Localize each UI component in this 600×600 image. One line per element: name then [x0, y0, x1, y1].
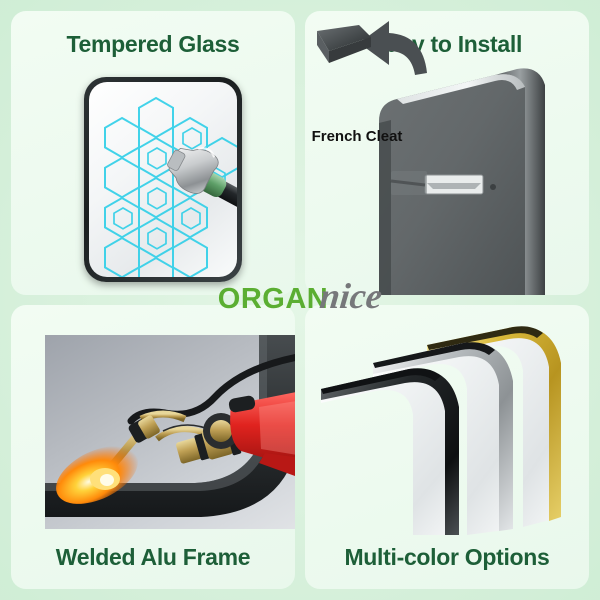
promo-infographic: Tempered Glass — [0, 0, 600, 600]
hammer-icon — [161, 140, 237, 250]
welding-image — [45, 335, 295, 529]
mirror-black — [321, 368, 459, 535]
feature-card-multi-color-options[interactable]: Multi-color Options — [305, 305, 589, 589]
feature-title-tempered-glass: Tempered Glass — [11, 31, 295, 58]
framed-mirrors-illustration — [317, 319, 589, 535]
brand-logo: ORGANnice — [0, 278, 600, 314]
feature-card-welded-alu-frame[interactable]: Welded Alu Frame — [11, 305, 295, 589]
multi-color-mirrors-image — [317, 319, 589, 535]
brand-name-script: nice — [318, 278, 384, 314]
french-cleat-label: French Cleat — [311, 129, 403, 145]
welding-torch-illustration — [45, 335, 295, 529]
feature-title-welded-alu-frame: Welded Alu Frame — [11, 544, 295, 571]
feature-card-easy-to-install[interactable]: Easy to Install — [305, 11, 589, 295]
feature-title-multi-color-options: Multi-color Options — [305, 544, 589, 571]
glass-panel-image — [84, 77, 242, 282]
mirror-back-image — [367, 63, 557, 295]
brand-name-bold: ORGAN — [218, 283, 328, 315]
feature-card-tempered-glass[interactable]: Tempered Glass — [11, 11, 295, 295]
glass-face — [89, 82, 237, 277]
french-cleat-piece-icon — [313, 23, 375, 75]
